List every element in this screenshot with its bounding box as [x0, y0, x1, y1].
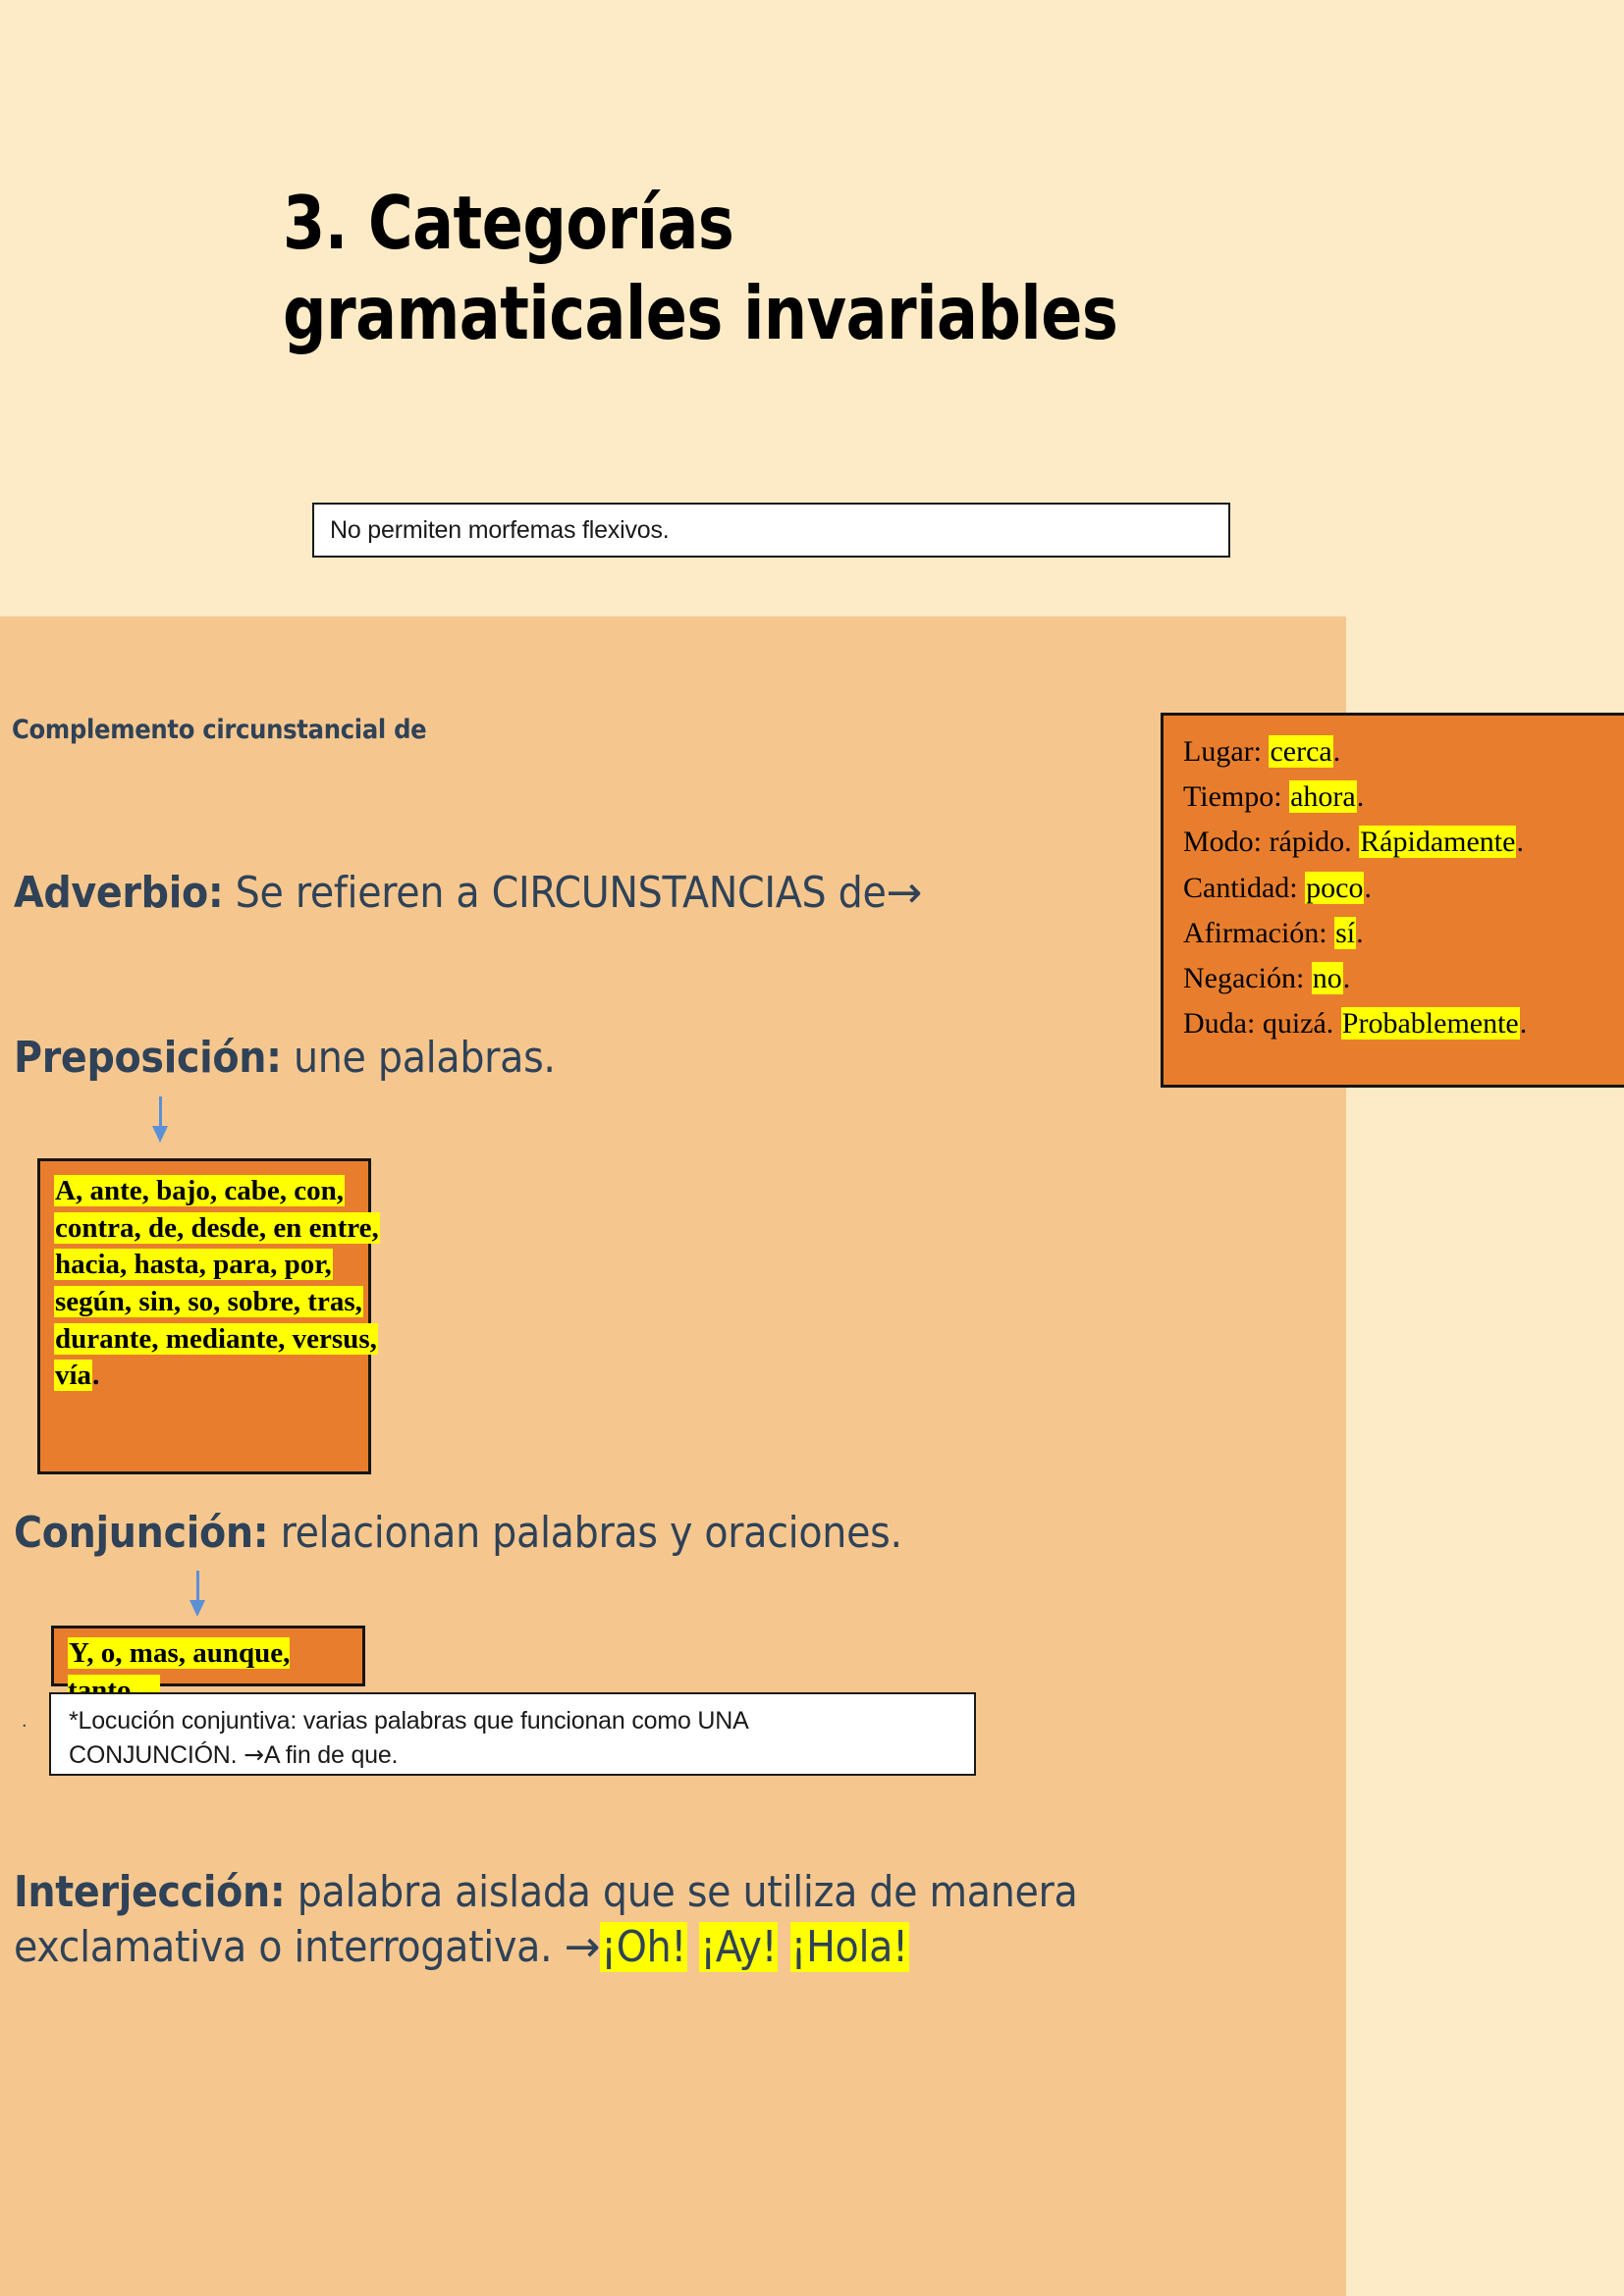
adverb-type-label: Tiempo:: [1183, 780, 1289, 813]
adverb-type-label: Modo:: [1183, 826, 1270, 858]
preposition-line-text: A, ante, bajo, cabe, con,: [54, 1175, 345, 1206]
arrow-head: [189, 1600, 205, 1617]
adverb-type-label: Afirmación:: [1183, 917, 1334, 949]
conjunction-list-box: Y, o, mas, aunque, tanto…: [51, 1626, 365, 1686]
adverb-type-highlighted-example: sí: [1334, 917, 1356, 949]
adverb-type-label: Duda:: [1183, 1007, 1263, 1040]
entry-adverbio-definition: Se refieren a CIRCUNSTANCIAS de: [223, 868, 886, 918]
preposition-line: vía.: [54, 1358, 368, 1395]
note-bottom-line-2-post: A fin de que.: [264, 1741, 398, 1769]
preposition-line: A, ante, bajo, cabe, con,: [54, 1173, 368, 1210]
adverb-type-tail: .: [1343, 962, 1351, 994]
arrow-head: [152, 1126, 168, 1143]
arrow-shaft: [159, 1096, 162, 1128]
adverb-type-highlighted-example: Probablemente: [1341, 1007, 1520, 1040]
preposition-line: durante, mediante, versus,: [54, 1321, 368, 1359]
entry-interjeccion-term: Interjección:: [14, 1867, 285, 1917]
adverb-type-label: Cantidad:: [1183, 872, 1305, 904]
page-title-line-2: gramaticales invariables: [283, 269, 1349, 359]
adverb-type-row: Lugar: cerca.: [1183, 729, 1624, 774]
adverb-type-highlighted-example: no: [1312, 962, 1343, 994]
note-bottom-line-2: CONJUNCIÓN. →A fin de que.: [69, 1738, 974, 1773]
preposition-line: según, sin, so, sobre, tras,: [54, 1284, 368, 1321]
adverb-type-tail: .: [1364, 872, 1372, 904]
stray-dot-mark: .: [22, 1710, 27, 1733]
note-box-locucion-conjuntiva: *Locución conjuntiva: varias palabras qu…: [49, 1692, 976, 1776]
preposition-line-text: vía: [54, 1360, 92, 1391]
page-title-line-1: 3. Categorías: [283, 179, 1349, 269]
preposition-line: contra, de, desde, en entre,: [54, 1210, 368, 1248]
preposition-list-tail: .: [92, 1360, 99, 1391]
right-arrow-icon-note: →: [244, 1740, 264, 1769]
page-title: 3. Categorías gramaticales invariables: [283, 179, 1349, 358]
entry-conjuncion-term: Conjunción:: [14, 1508, 268, 1558]
adverb-type-plain-example: rápido.: [1270, 826, 1360, 858]
note-bottom-line-1: *Locución conjuntiva: varias palabras qu…: [69, 1705, 974, 1738]
interjeccion-example: ¡Hola!: [790, 1922, 909, 1972]
adverb-types-box: Lugar: cerca.Tiempo: ahora.Modo: rápido.…: [1161, 713, 1624, 1088]
adverb-type-row: Negación: no.: [1183, 956, 1624, 1001]
adverb-type-label: Lugar:: [1183, 735, 1269, 768]
adverb-type-row: Duda: quizá. Probablemente.: [1183, 1001, 1624, 1046]
preposition-line: hacia, hasta, para, por,: [54, 1247, 368, 1284]
note-box-top-text: No permiten morfemas flexivos.: [314, 516, 670, 545]
preposition-list-box: A, ante, bajo, cabe, con,contra, de, des…: [37, 1158, 371, 1474]
entry-preposicion: Preposición: une palabras.: [14, 1033, 556, 1083]
arrow-shaft: [196, 1571, 199, 1602]
preposition-line-text: contra, de, desde, en entre,: [54, 1212, 380, 1244]
preposition-line-text: según, sin, so, sobre, tras,: [54, 1286, 363, 1317]
adverb-type-tail: .: [1333, 735, 1341, 768]
adverb-type-row: Tiempo: ahora.: [1183, 774, 1624, 820]
right-arrow-icon-interjeccion: →: [565, 1922, 601, 1972]
adverb-type-tail: .: [1520, 1007, 1528, 1040]
adverb-type-plain-example: quizá.: [1263, 1007, 1341, 1040]
interjeccion-example: ¡Oh!: [600, 1922, 687, 1972]
right-arrow-icon: →: [887, 868, 923, 918]
entry-preposicion-definition: une palabras.: [282, 1033, 556, 1083]
adverb-type-row: Cantidad: poco.: [1183, 866, 1624, 911]
entry-conjuncion-definition: relacionan palabras y oraciones.: [268, 1508, 901, 1558]
preposition-line-text: durante, mediante, versus,: [54, 1323, 378, 1355]
entry-conjuncion: Conjunción: relacionan palabras y oracio…: [14, 1508, 902, 1558]
interjeccion-example: ¡Ay!: [699, 1922, 778, 1972]
adverb-type-tail: .: [1356, 917, 1364, 949]
interjeccion-examples: ¡Oh! ¡Ay! ¡Hola!: [600, 1922, 909, 1972]
preposition-line-text: hacia, hasta, para, por,: [54, 1249, 333, 1280]
entry-interjeccion: Interjección: palabra aislada que se uti…: [14, 1865, 1241, 1976]
adverb-type-highlighted-example: Rápidamente: [1359, 826, 1516, 858]
note-box-no-flexive-morphemes: No permiten morfemas flexivos.: [312, 503, 1230, 558]
adverb-type-row: Modo: rápido. Rápidamente.: [1183, 820, 1624, 865]
complemento-circunstancial-label: Complemento circunstancial de: [12, 715, 426, 745]
adverb-type-highlighted-example: poco: [1305, 872, 1364, 904]
entry-preposicion-term: Preposición:: [14, 1033, 282, 1083]
note-bottom-line-2-pre: CONJUNCIÓN.: [69, 1741, 244, 1769]
adverb-type-highlighted-example: cerca: [1269, 735, 1332, 768]
adverb-type-row: Afirmación: sí.: [1183, 911, 1624, 956]
adverb-type-tail: .: [1516, 826, 1524, 858]
adverb-type-highlighted-example: ahora: [1289, 780, 1357, 813]
adverb-type-tail: .: [1357, 780, 1365, 813]
adverb-type-label: Negación:: [1183, 962, 1312, 994]
entry-adverbio-term: Adverbio:: [14, 868, 223, 918]
entry-adverbio: Adverbio: Se refieren a CIRCUNSTANCIAS d…: [14, 868, 922, 918]
